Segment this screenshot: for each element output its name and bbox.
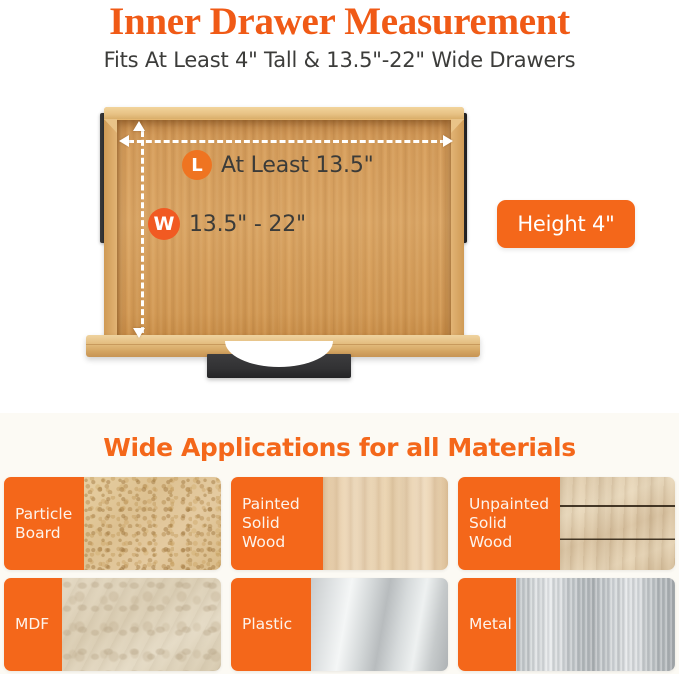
material-label: MDF xyxy=(4,578,62,671)
length-value: At Least 13.5" xyxy=(221,153,374,178)
applications-section: Wide Applications for all Materials Part… xyxy=(0,413,679,674)
page-subtitle: Fits At Least 4" Tall & 13.5"-22" Wide D… xyxy=(0,47,679,73)
drawer-wall-left xyxy=(104,120,117,347)
applications-title: Wide Applications for all Materials xyxy=(0,433,679,462)
drawer-diagram: L At Least 13.5" W 13.5" - 22" Height 4" xyxy=(0,95,679,395)
material-card-mdf: MDF xyxy=(4,578,221,671)
materials-grid: Particle Board Painted Solid Wood Unpain… xyxy=(4,477,675,671)
width-value: 13.5" - 22" xyxy=(189,212,306,237)
particle-board-texture xyxy=(84,477,221,570)
width-label: W 13.5" - 22" xyxy=(148,208,306,240)
unpainted-solid-wood-texture xyxy=(560,477,675,570)
material-label: Unpainted Solid Wood xyxy=(458,477,560,570)
material-label: Painted Solid Wood xyxy=(231,477,323,570)
plastic-texture xyxy=(311,578,448,671)
length-label: L At Least 13.5" xyxy=(182,150,374,180)
arrow-right-icon xyxy=(443,135,453,147)
drawer-corner-right xyxy=(451,119,464,133)
width-dimension-line xyxy=(141,131,144,333)
material-card-unpainted-solid-wood: Unpainted Solid Wood xyxy=(458,477,675,570)
mdf-texture xyxy=(62,578,221,671)
arrow-down-icon xyxy=(133,328,145,338)
material-label: Plastic xyxy=(231,578,311,671)
drawer-corner-left xyxy=(104,119,117,133)
arrow-left-icon xyxy=(119,135,129,147)
material-card-plastic: Plastic xyxy=(231,578,448,671)
material-label: Metal xyxy=(458,578,516,671)
drawer-handle xyxy=(207,354,351,378)
width-badge-icon: W xyxy=(148,208,180,240)
metal-texture xyxy=(516,578,675,671)
infographic-page: Inner Drawer Measurement Fits At Least 4… xyxy=(0,0,679,674)
drawer-wall-right xyxy=(451,120,464,347)
arrow-up-icon xyxy=(133,121,145,131)
painted-solid-wood-texture xyxy=(323,477,448,570)
handle-arc-cutout xyxy=(225,341,333,367)
height-badge: Height 4" xyxy=(497,200,635,248)
page-title: Inner Drawer Measurement xyxy=(0,0,679,44)
material-label: Particle Board xyxy=(4,477,84,570)
material-card-painted-solid-wood: Painted Solid Wood xyxy=(231,477,448,570)
material-card-metal: Metal xyxy=(458,578,675,671)
drawer-top-rim-face xyxy=(104,107,464,119)
header: Inner Drawer Measurement Fits At Least 4… xyxy=(0,0,679,86)
length-badge-icon: L xyxy=(182,150,212,180)
material-card-particle-board: Particle Board xyxy=(4,477,221,570)
length-dimension-line xyxy=(128,140,446,143)
